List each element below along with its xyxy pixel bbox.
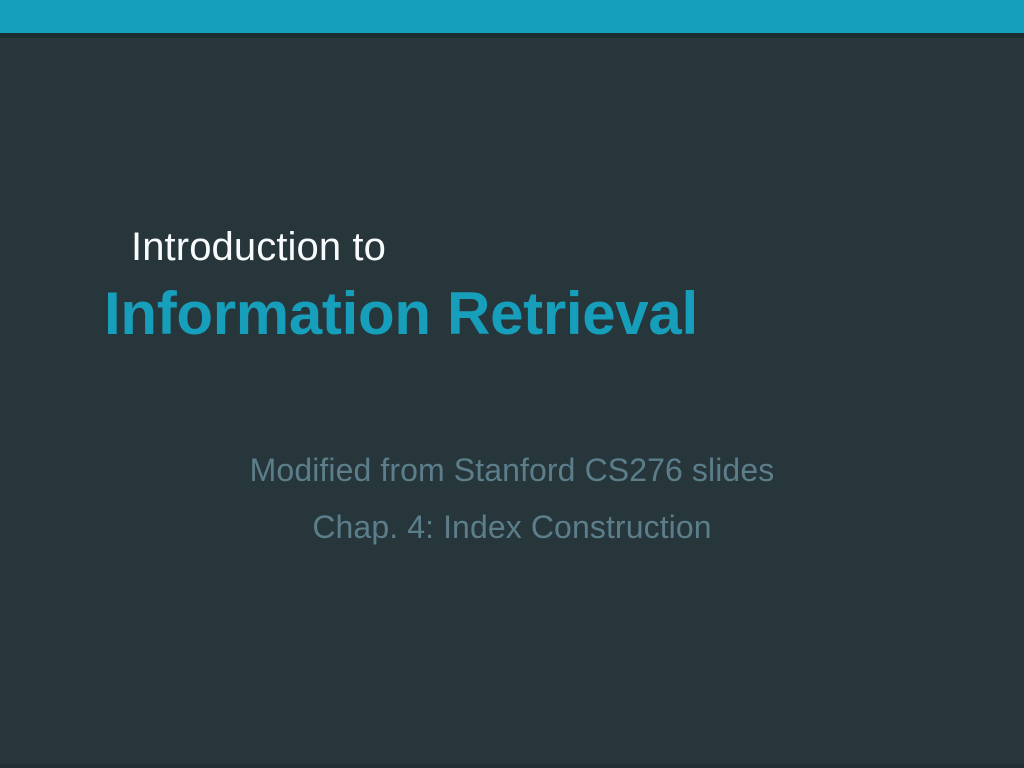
top-accent-bar-shadow — [0, 33, 1024, 38]
title-slide: Introduction to Information Retrieval Mo… — [0, 0, 1024, 768]
subtitle-line-chapter: Chap. 4: Index Construction — [0, 499, 1024, 556]
bottom-rule — [0, 764, 1024, 768]
top-accent-bar — [0, 0, 1024, 33]
subtitle-block: Modified from Stanford CS276 slides Chap… — [0, 442, 1024, 556]
title-block: Introduction to Information Retrieval — [0, 222, 1024, 350]
subtitle-line-source: Modified from Stanford CS276 slides — [0, 442, 1024, 499]
slide-kicker: Introduction to — [131, 222, 1024, 272]
slide-headline: Information Retrieval — [104, 278, 1024, 350]
